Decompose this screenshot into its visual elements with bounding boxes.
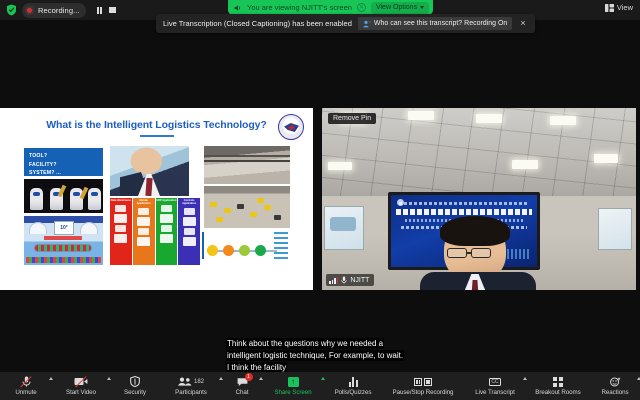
eyeglasses-left [447,248,467,258]
speaker-icon [234,4,242,12]
stop-icon[interactable] [109,7,116,14]
who-can-see-transcript-button[interactable]: ? Who can see this transcript? Recording… [358,17,512,30]
toolbar-label: Polls/Quizzes [335,389,372,396]
layout-view-icon [605,4,614,12]
shield-check-icon[interactable] [6,4,17,16]
toolbar-label: Pause/Stop Recording [393,389,454,396]
participant-name: NJITT [350,277,369,284]
recording-controls [97,7,116,14]
pause-stop-icon [414,376,432,387]
toolbar-button-share-screen[interactable]: ↑ Share Screen [262,372,324,400]
participant-count: 182 [194,379,204,385]
microphone-muted-icon [22,376,31,387]
toolbar-label: Share Screen [274,389,311,396]
svg-text:?: ? [368,20,371,24]
transcription-notification: Live Transcription (Closed Captioning) h… [156,14,535,33]
toolbar-button-unmute[interactable]: Unmute [0,372,52,400]
who-can-see-transcript-label: Who can see this transcript? Recording O… [374,20,507,27]
callout-line: TOOL? [29,152,98,161]
pinned-video-tile[interactable]: Remove Pin NJITT [322,108,636,290]
humanoid-robots-photo [24,179,103,213]
toolbar-button-reactions[interactable]: Reactions [590,372,640,400]
agv-robot-floor-photo [204,186,290,228]
recording-status-group: Recording... [0,3,116,18]
speaker-person [418,220,538,290]
toolbar-label: Chat [236,389,249,396]
view-layout-button[interactable]: View [605,3,633,12]
slide-title: What is the Intelligent Logistics Techno… [0,108,313,131]
toolbar-button-chat[interactable]: 1 Chat [222,372,262,400]
warehouse-interior-photo [204,146,290,184]
arch-column-title: ERP Application [156,200,176,203]
arch-column: Controls Application [178,198,200,265]
microphone-muted-icon [341,276,347,284]
callout-line: FACILITY? [29,161,98,170]
person-question-icon: ? [363,20,371,28]
chat-unread-badge: 1 [245,373,253,381]
signal-bars-icon [329,277,338,284]
view-options-button[interactable]: View Options [371,2,429,14]
toolbar-label: Reactions [601,389,628,396]
eyeglasses-right [471,248,491,258]
logistics-flow-diagram [204,230,290,265]
toolbar-button-security[interactable]: Security [110,372,160,400]
arch-column-title: Controls Application [178,200,200,206]
meeting-toolbar: Unmute Start Video Security 182 Particip… [0,372,640,400]
university-seal-logo [278,114,304,140]
callout-line: SYSTEM? ... [29,169,98,178]
reactions-icon [610,376,621,387]
screen-share-banner: You are viewing NJITT's screen ✕ View Op… [228,0,433,15]
close-icon[interactable]: × [518,19,527,28]
share-screen-icon: ↑ [288,376,299,387]
toolbar-button-participants[interactable]: 182 Participants [160,372,222,400]
arch-column: ERP Application [156,198,178,265]
participants-icon: 182 [178,376,204,387]
recording-label: Recording... [38,6,80,15]
toolbar-label: Live Transcript [475,389,514,396]
toolbar-label: Start Video [66,389,96,396]
arch-column: Mobile Application [133,198,155,265]
breakout-rooms-icon [553,376,563,387]
zoom-meeting-window: Recording... You are viewing NJITT's scr… [0,0,640,400]
chevron-down-icon [420,6,424,9]
notification-message: Live Transcription (Closed Captioning) h… [163,19,352,28]
toolbar-label: Unmute [15,389,36,396]
caption-line: Think about the questions why we needed … [226,338,384,349]
slide-body: TOOL? FACILITY? SYSTEM? ... CLOUD COMPUT… [0,144,313,290]
closed-caption-icon: CC [489,376,501,387]
remove-pin-button[interactable]: Remove Pin [328,113,376,124]
toolbar-button-live-transcript[interactable]: CC Live Transcript [464,372,526,400]
recording-indicator[interactable]: Recording... [22,3,86,18]
architecture-diagram: Data Warehouse Mobile Application ERP Ap… [110,198,200,265]
chat-icon: 1 [237,376,248,387]
callout-tool-facility-system: TOOL? FACILITY? SYSTEM? ... [24,148,103,176]
toolbar-button-breakout-rooms[interactable]: Breakout Rooms [526,372,590,400]
wall-map [324,206,364,250]
poll-bars-icon [349,376,358,387]
shield-icon [130,376,140,387]
arch-column-title: Data Warehouse [111,200,131,203]
toolbar-label: Security [124,389,146,396]
caption-line: intelligent logistic technique, For exam… [226,350,404,361]
video-name-label: NJITT [326,274,374,286]
closed-captions: Think about the questions why we needed … [226,338,434,373]
arch-column: Data Warehouse [110,198,132,265]
toolbar-button-start-video[interactable]: Start Video [52,372,110,400]
shared-screen-content[interactable]: What is the Intelligent Logistics Techno… [0,108,313,290]
businessman-photo [110,146,189,196]
pause-icon[interactable] [97,7,103,14]
video-off-icon [74,376,88,387]
toolbar-label: Participants [175,389,207,396]
control-dashboard-photo: 10° [24,216,103,265]
share-banner-text: You are viewing NJITT's screen [247,3,352,12]
view-options-label: View Options [376,4,417,11]
toolbar-button-pause-stop-recording[interactable]: Pause/Stop Recording [382,372,464,400]
toolbar-button-polls[interactable]: Polls/Quizzes [324,372,382,400]
stop-share-circle-icon[interactable]: ✕ [357,3,366,12]
view-button-label: View [617,3,633,12]
toolbar-label: Breakout Rooms [535,389,580,396]
arch-column-title: Mobile Application [133,200,155,206]
title-underline [140,135,174,137]
wall-poster [598,208,632,250]
record-dot-icon [25,6,34,15]
